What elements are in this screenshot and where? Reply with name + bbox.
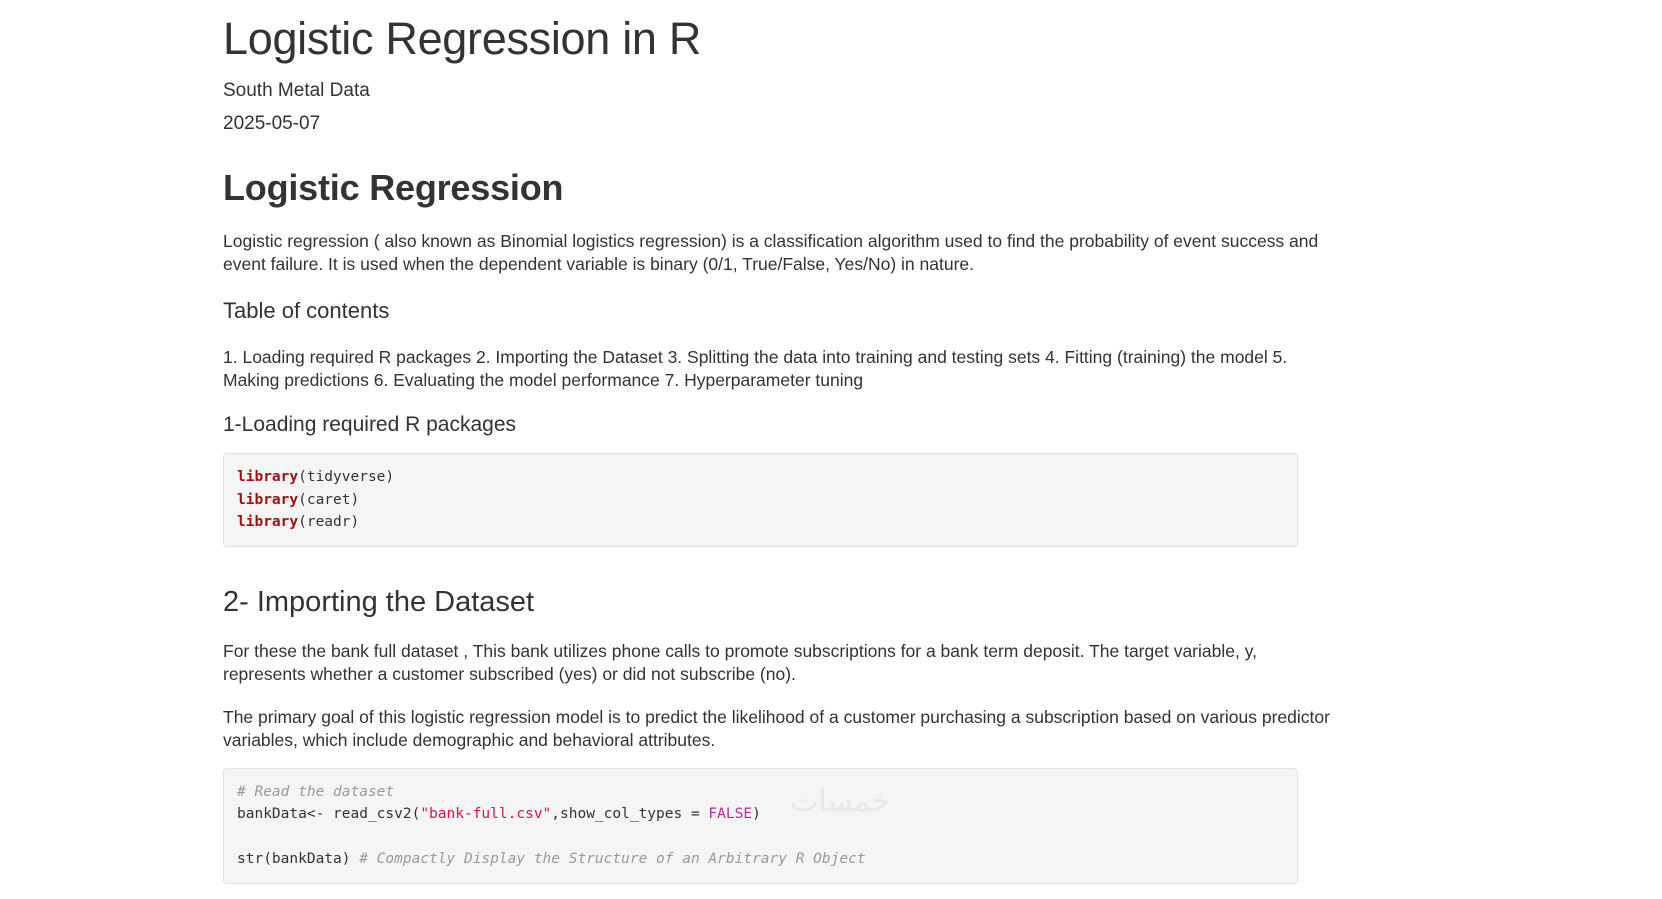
code-string-filename: "bank-full.csv" [420,806,551,822]
code-call-str: str(bankData) [237,851,359,867]
step2-paragraph-1: For these the bank full dataset , This b… [223,620,1333,686]
document-date: 2025-05-07 [223,102,1333,135]
code-comment-str-description: # Compactly Display the Structure of an … [359,851,865,867]
page-title: Logistic Regression in R [223,0,1333,64]
code-block-libraries[interactable]: library(tidyverse) library(caret) librar… [223,453,1298,547]
code-keyword-library: library [237,469,298,485]
code-block-libraries-wrapper: library(tidyverse) library(caret) librar… [223,437,1333,547]
code-keyword-library: library [237,492,298,508]
table-of-contents-list: 1. Loading required R packages 2. Import… [223,324,1333,392]
code-variable-bankdata: bankData<- read_csv2( [237,806,420,822]
section-heading-step-1: 1-Loading required R packages [223,392,1333,437]
section-heading-step-2: 2- Importing the Dataset [223,547,1333,620]
code-arg-show-col-types: ,show_col_types = [551,806,708,822]
code-constant-false: FALSE [708,806,752,822]
document-content: Logistic Regression in R South Metal Dat… [223,0,1333,884]
code-block-import-dataset[interactable]: # Read the dataset bankData<- read_csv2(… [223,768,1298,884]
document-author: South Metal Data [223,64,1333,102]
step2-paragraph-2: The primary goal of this logistic regres… [223,686,1333,752]
code-keyword-library: library [237,514,298,530]
document-page: Logistic Regression in R South Metal Dat… [0,0,1662,884]
section-heading-table-of-contents: Table of contents [223,276,1333,324]
code-comment-read-dataset: # Read the dataset [237,784,394,800]
code-block-import-wrapper: # Read the dataset bankData<- read_csv2(… [223,752,1333,884]
section-heading-logistic-regression: Logistic Regression [223,135,1333,208]
code-arg-tidyverse: (tidyverse) [298,469,394,485]
code-arg-caret: (caret) [298,492,359,508]
code-paren-close: ) [752,806,761,822]
code-arg-readr: (readr) [298,514,359,530]
intro-paragraph: Logistic regression ( also known as Bino… [223,208,1333,276]
